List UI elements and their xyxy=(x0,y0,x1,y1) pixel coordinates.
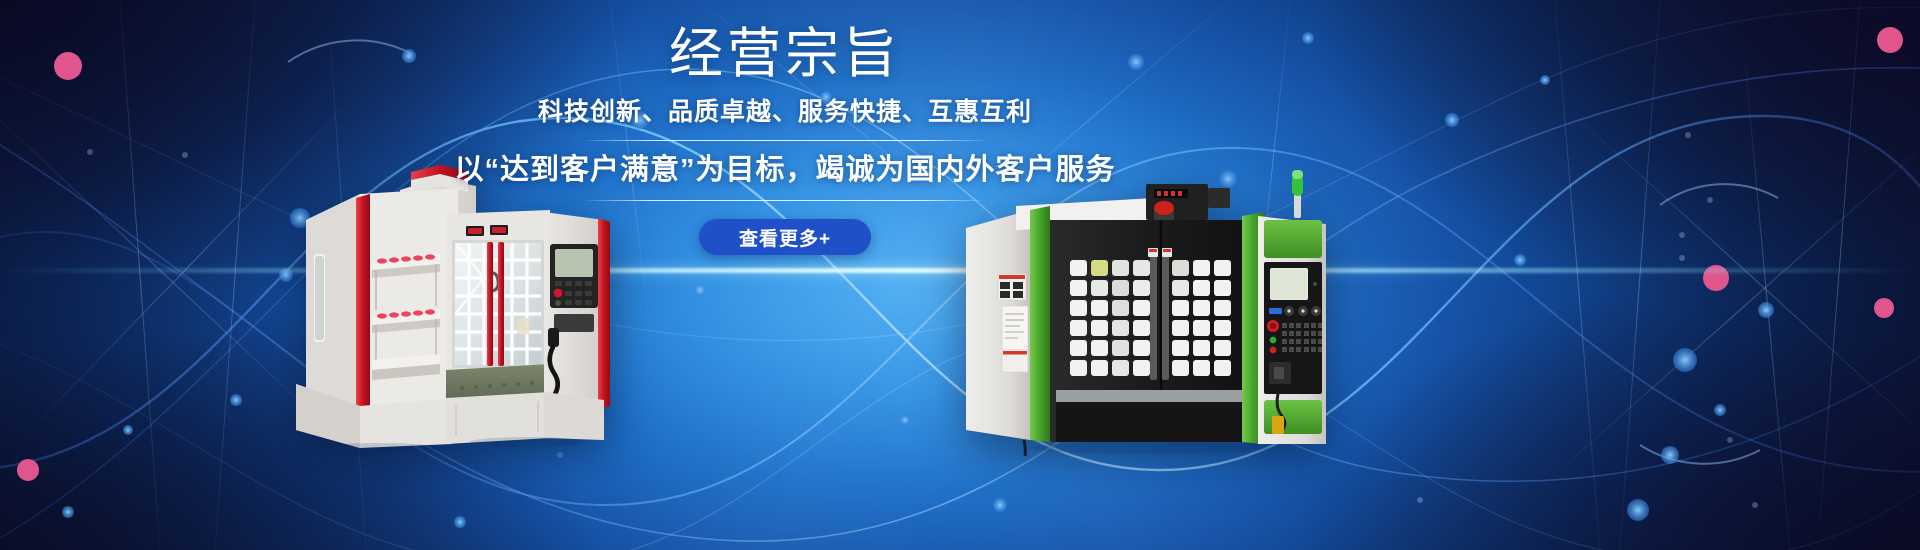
divider-bottom xyxy=(585,200,985,201)
promo-banner: 经营宗旨 科技创新、品质卓越、服务快捷、互惠互利 以“达到客户满意”为目标，竭诚… xyxy=(0,0,1920,550)
banner-title: 经营宗旨 xyxy=(669,22,901,86)
banner-text-block: 经营宗旨 科技创新、品质卓越、服务快捷、互惠互利 以“达到客户满意”为目标，竭诚… xyxy=(435,22,1135,255)
view-more-button[interactable]: 查看更多+ xyxy=(699,219,871,255)
banner-subtitle: 科技创新、品质卓越、服务快捷、互惠互利 xyxy=(538,96,1032,128)
divider-top xyxy=(585,140,985,141)
banner-tagline: 以“达到客户满意”为目标，竭诚为国内外客户服务 xyxy=(454,151,1115,189)
